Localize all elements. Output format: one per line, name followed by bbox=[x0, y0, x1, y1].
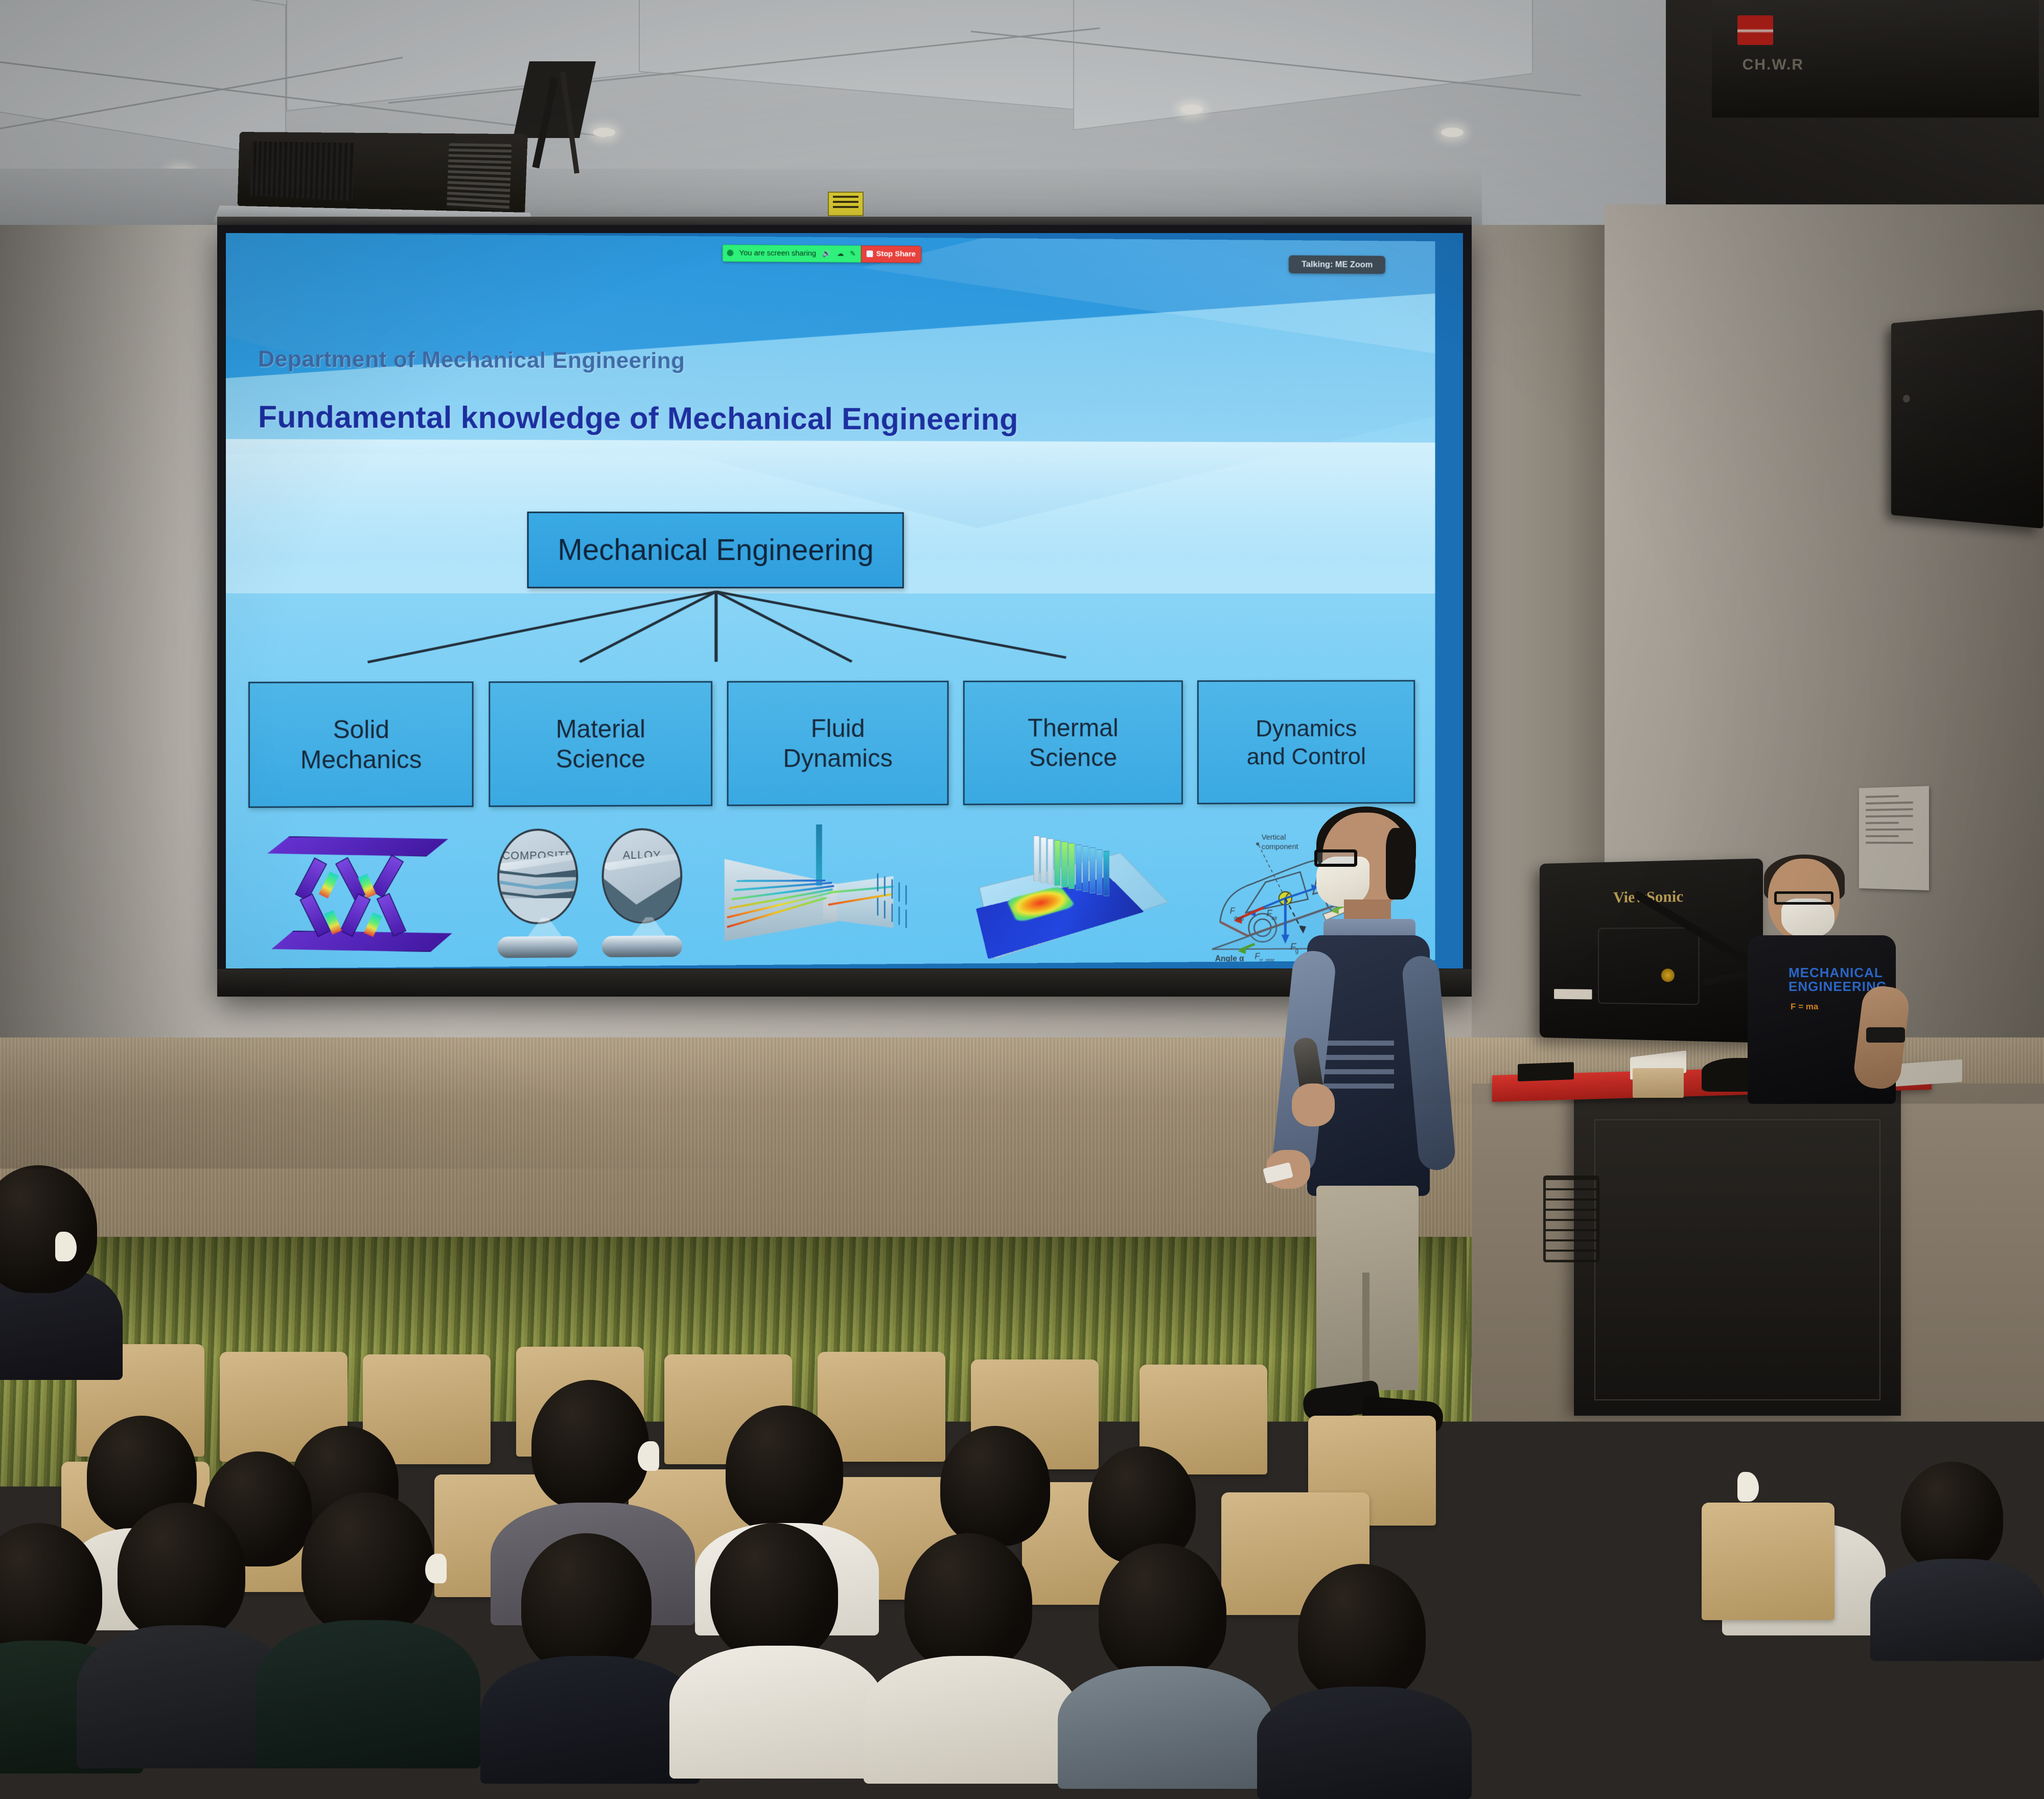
audience-head bbox=[710, 1523, 838, 1661]
svg-text:F: F bbox=[1230, 906, 1236, 916]
ceiling-light bbox=[1441, 128, 1464, 137]
presentation-slide: You are screen sharing 🔊 ☁ ✎ Stop Share … bbox=[226, 233, 1435, 968]
projector-vent bbox=[447, 143, 512, 212]
speaker-cone-icon bbox=[1903, 395, 1910, 402]
diagram-connector-lines bbox=[226, 588, 1435, 683]
slide-illustration-row: COMPOSITE ALLOY bbox=[244, 813, 1417, 968]
node-label-line1: Material bbox=[556, 714, 645, 744]
diagram-root-label: Mechanical Engineering bbox=[558, 533, 873, 567]
seat[interactable] bbox=[1702, 1503, 1834, 1620]
ceiling-light bbox=[593, 128, 615, 137]
audience-seating-area bbox=[0, 1175, 1584, 1533]
audience-torso bbox=[1257, 1687, 1472, 1799]
audience-head bbox=[904, 1533, 1032, 1671]
node-label-line2: Science bbox=[556, 744, 645, 774]
node-label-line1: Thermal bbox=[1028, 713, 1119, 743]
node-label-line2: Science bbox=[1029, 743, 1117, 773]
talking-label: Talking: ME Zoom bbox=[1302, 260, 1373, 269]
node-label-line1: Fluid bbox=[811, 713, 865, 744]
speaker-icon[interactable]: 🔊 bbox=[822, 249, 831, 258]
shirt-line2: ENGINEERING bbox=[1788, 980, 1878, 994]
audience-head bbox=[1298, 1564, 1426, 1702]
shirt-line1: MECHANICAL bbox=[1788, 966, 1878, 980]
audience-torso bbox=[255, 1620, 480, 1768]
illustration-composite-alloy: COMPOSITE ALLOY bbox=[483, 816, 719, 968]
wall-sign-label: CH.W.R bbox=[1743, 56, 1804, 74]
sharing-status-group: You are screen sharing 🔊 ☁ ✎ bbox=[722, 244, 861, 262]
diagram-node-fluid-dynamics: Fluid Dynamics bbox=[727, 681, 948, 806]
podium bbox=[1574, 1089, 1901, 1416]
diagram-root-node: Mechanical Engineering bbox=[527, 512, 904, 588]
zoom-screen-share-toolbar[interactable]: You are screen sharing 🔊 ☁ ✎ Stop Share bbox=[722, 244, 921, 263]
seated-assistant: MECHANICAL ENGINEERING F = ma bbox=[1737, 859, 1906, 1124]
audience-head bbox=[1099, 1543, 1226, 1681]
audience-torso bbox=[864, 1656, 1078, 1784]
diagram-node-dynamics-and-control: Dynamics and Control bbox=[1197, 680, 1415, 804]
audience-head bbox=[0, 1165, 97, 1293]
warning-label-icon bbox=[828, 192, 864, 216]
assistant-wrist-band bbox=[1866, 1027, 1905, 1043]
presenter-glasses-icon bbox=[1314, 849, 1357, 867]
diagram-node-thermal-science: Thermal Science bbox=[963, 680, 1183, 805]
node-label-line2: Dynamics bbox=[783, 743, 893, 773]
audience-head bbox=[521, 1533, 652, 1674]
audience-head bbox=[301, 1492, 434, 1635]
audience-head bbox=[531, 1380, 649, 1510]
cardboard-box bbox=[1633, 1068, 1684, 1098]
audience-head bbox=[726, 1405, 843, 1533]
face-mask bbox=[425, 1554, 447, 1583]
assistant-shirt-subtext: F = ma bbox=[1791, 1002, 1818, 1012]
monitor-cable-port-icon bbox=[1661, 968, 1675, 982]
angle-label: Angle α bbox=[1215, 954, 1244, 963]
annotate-pencil-icon[interactable]: ✎ bbox=[850, 249, 855, 258]
node-label-line2: Mechanics bbox=[300, 745, 422, 775]
presenter-hand-holding-mic bbox=[1292, 1083, 1335, 1126]
svg-text:drag: drag bbox=[1234, 916, 1244, 921]
wall-shadow bbox=[0, 225, 215, 1043]
illustration-heatsink-thermal bbox=[955, 814, 1187, 967]
stop-square-icon bbox=[867, 250, 873, 257]
diagram-node-solid-mechanics: Solid Mechanics bbox=[248, 681, 474, 808]
audience-torso bbox=[1870, 1559, 2044, 1661]
slide-title: Fundamental knowledge of Mechanical Engi… bbox=[258, 399, 1018, 437]
node-label-line1: Dynamics bbox=[1256, 714, 1357, 742]
slide-department-line: Department of Mechanical Engineering bbox=[258, 345, 685, 374]
lecture-hall-scene: CH.W.R bbox=[0, 0, 2044, 1533]
diagram-node-material-science: Material Science bbox=[489, 681, 712, 807]
stop-share-button[interactable]: Stop Share bbox=[861, 245, 921, 263]
wall-speaker bbox=[1891, 310, 2043, 529]
monitor-vesa-plate bbox=[1598, 927, 1700, 1005]
face-mask bbox=[638, 1441, 659, 1471]
node-label-line2: and Control bbox=[1247, 742, 1366, 770]
audience-torso bbox=[480, 1656, 700, 1784]
presenter-vest-logo bbox=[1317, 1032, 1394, 1089]
remote-control[interactable] bbox=[1518, 1062, 1574, 1081]
presenter-hair-back bbox=[1386, 828, 1415, 899]
audience-head bbox=[1901, 1462, 2003, 1572]
ceiling-light bbox=[1180, 105, 1203, 114]
talking-indicator: Talking: ME Zoom bbox=[1289, 256, 1385, 274]
assistant-glasses-icon bbox=[1774, 891, 1833, 905]
illustration-fea-scissor-lift bbox=[244, 817, 483, 968]
node-label-line1: Solid bbox=[333, 714, 389, 745]
emergency-marker bbox=[1737, 15, 1773, 45]
diagram-category-row: Solid Mechanics Material Science Fluid D… bbox=[248, 680, 1415, 808]
stop-share-label: Stop Share bbox=[876, 250, 916, 259]
monitor-sticker bbox=[1554, 989, 1592, 999]
cloud-share-icon[interactable]: ☁ bbox=[837, 249, 844, 258]
projector-grill bbox=[250, 142, 354, 201]
illustration-cfd-streamlines bbox=[720, 815, 955, 968]
audience-torso bbox=[669, 1646, 884, 1779]
audience-head bbox=[118, 1503, 245, 1641]
audience-torso bbox=[1058, 1666, 1272, 1789]
record-dot-icon bbox=[727, 250, 733, 257]
audience-head bbox=[940, 1426, 1050, 1546]
sharing-status-label: You are screen sharing bbox=[739, 249, 817, 258]
